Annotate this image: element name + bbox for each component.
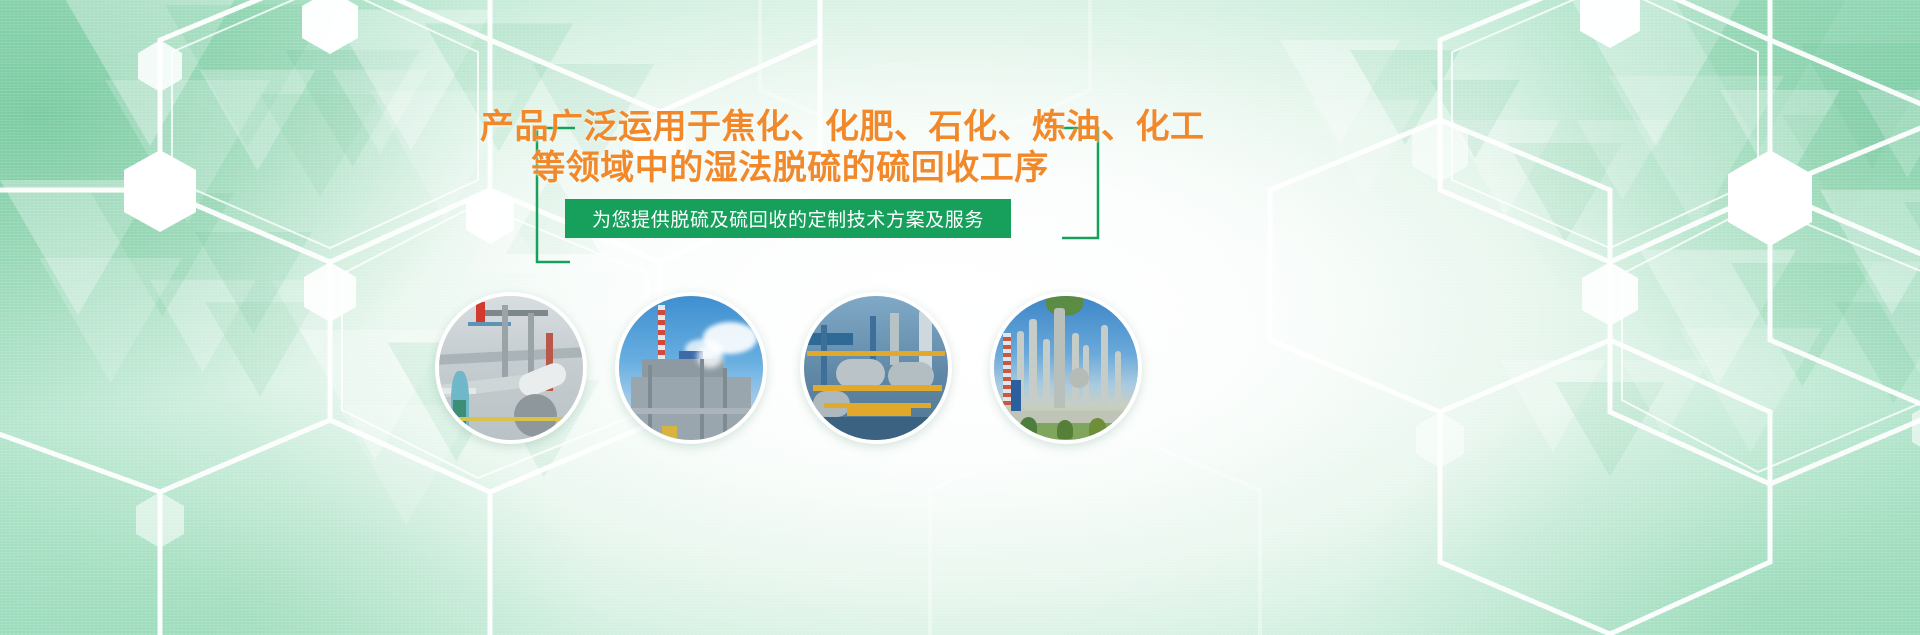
photo-refinery-towers[interactable] bbox=[990, 292, 1142, 444]
promo-banner: 产品广泛运用于焦化、化肥、石化、炼油、化工 等领域中的湿法脱硫的硫回收工序 为您… bbox=[0, 0, 1920, 635]
headline-line-1: 产品广泛运用于焦化、化肥、石化、炼油、化工 bbox=[480, 108, 1205, 146]
banner-content: 产品广泛运用于焦化、化肥、石化、炼油、化工 等领域中的湿法脱硫的硫回收工序 为您… bbox=[0, 0, 1920, 635]
banner-subtitle-text: 为您提供脱硫及硫回收的定制技术方案及服务 bbox=[592, 205, 984, 232]
headline-bracket-frame bbox=[0, 0, 1920, 635]
banner-subtitle-bar: 为您提供脱硫及硫回收的定制技术方案及服务 bbox=[565, 199, 1011, 238]
photo-plant-smokestack[interactable] bbox=[615, 292, 767, 444]
photo-sulfur-recovery-piping[interactable] bbox=[435, 292, 587, 444]
banner-headline: 产品广泛运用于焦化、化肥、石化、炼油、化工 等领域中的湿法脱硫的硫回收工序 bbox=[480, 107, 1100, 189]
photo-storage-tanks[interactable] bbox=[800, 292, 952, 444]
headline-line-2: 等领域中的湿法脱硫的硫回收工序 bbox=[480, 148, 1100, 189]
